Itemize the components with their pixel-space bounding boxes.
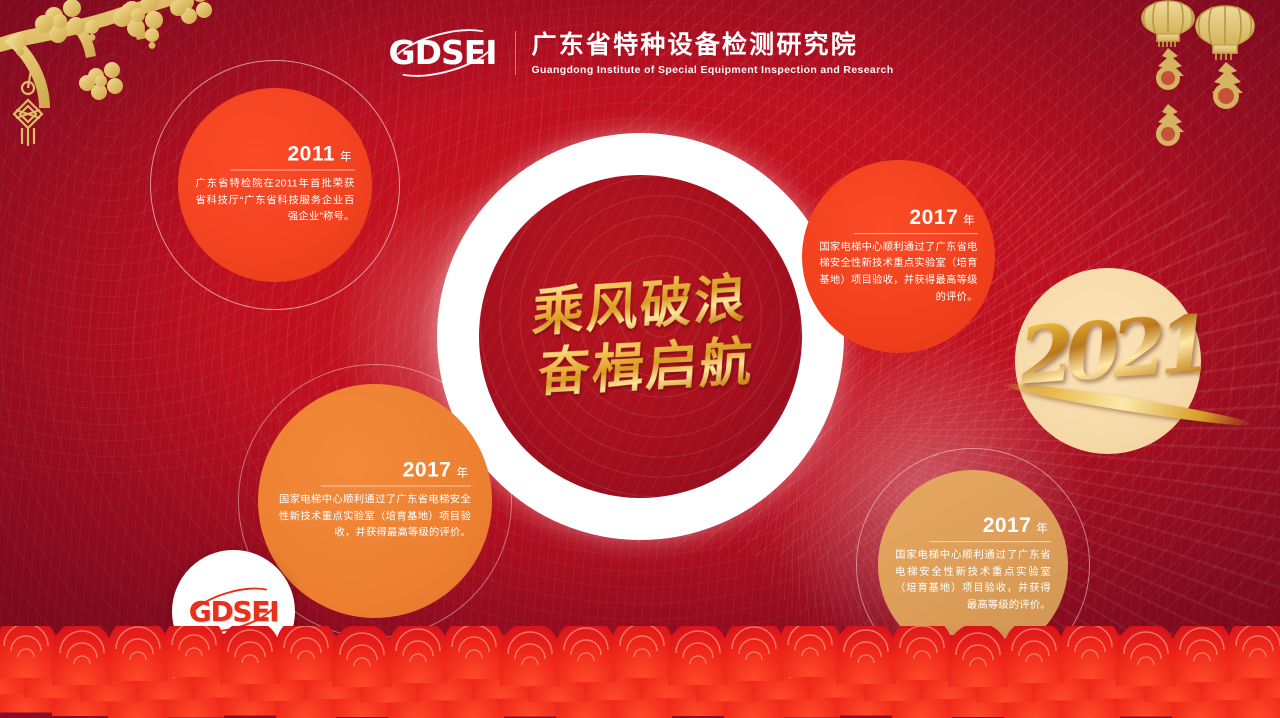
page-title: 广东省特种设备检测研究院: [532, 30, 894, 61]
bubble-body-2017c: 国家电梯中心顺利通过了广东省电梯安全性新技术重点实验室（培育基地）项目验收，并获…: [895, 548, 1051, 615]
bubble-year-2017a: 2017年: [819, 207, 977, 228]
bubble-year-unit: 年: [340, 151, 352, 163]
bubble-year-number: 2017: [909, 206, 958, 229]
bubble-body-2017a: 国家电梯中心顺利通过了广东省电梯安全性新技术重点实验室（培育基地）项目验收，并获…: [819, 240, 977, 307]
gdsei-logo-icon: GDSEI: [387, 30, 499, 76]
central-red-disc: 乘风破浪 奋楫启航: [479, 175, 802, 498]
bubble-rule: [929, 541, 1051, 542]
bubble-year-2017b: 2017年: [279, 459, 471, 480]
bubble-rule: [854, 233, 977, 234]
info-bubble-2017a[interactable]: 2017年 国家电梯中心顺利通过了广东省电梯安全性新技术重点实验室（培育基地）项…: [802, 160, 995, 353]
calligraphy-block: 乘风破浪 奋楫启航: [479, 175, 802, 498]
plum-blossom-branch-icon: [0, 0, 224, 156]
bubble-year-unit: 年: [963, 215, 975, 227]
calligraphy-line-2: 奋楫启航: [537, 331, 757, 402]
header-title-block: 广东省特种设备检测研究院 Guangdong Institute of Spec…: [532, 30, 894, 76]
info-bubble-2017b[interactable]: 2017年 国家电梯中心顺利通过了广东省电梯安全性新技术重点实验室（培育基地）项…: [258, 384, 492, 618]
year-2021-numerals: 2021: [1008, 283, 1216, 417]
page-subtitle: Guangdong Institute of Special Equipment…: [532, 64, 894, 76]
logo-wordmark: GDSEI: [387, 30, 499, 76]
cloud-wave-pattern: [0, 626, 1280, 718]
bubble-year-unit: 年: [1036, 523, 1048, 535]
lantern-pair-icon: [1126, 0, 1274, 176]
bubble-body-2017b: 国家电梯中心顺利通过了广东省电梯安全性新技术重点实验室（培育基地）项目验收，并获…: [279, 492, 471, 542]
bubble-rule: [230, 169, 354, 170]
bubble-year-unit: 年: [456, 467, 468, 479]
bubble-rule: [321, 485, 471, 486]
bubble-year-number: 2017: [983, 514, 1032, 537]
bubble-year-2017c: 2017年: [895, 515, 1051, 536]
bubble-body-2011: 广东省特检院在2011年首批荣获省科技厅“广东省科技服务企业百强企业”称号。: [195, 176, 354, 226]
header-divider: [515, 31, 516, 75]
bubble-year-number: 2017: [403, 458, 452, 481]
wave-scales-svg: [0, 626, 1280, 718]
poster-canvas: GDSEI 广东省特种设备检测研究院 Guangdong Institute o…: [0, 0, 1280, 718]
bubble-year-number: 2011: [287, 142, 335, 165]
page-header: GDSEI 广东省特种设备检测研究院 Guangdong Institute o…: [0, 30, 1280, 76]
